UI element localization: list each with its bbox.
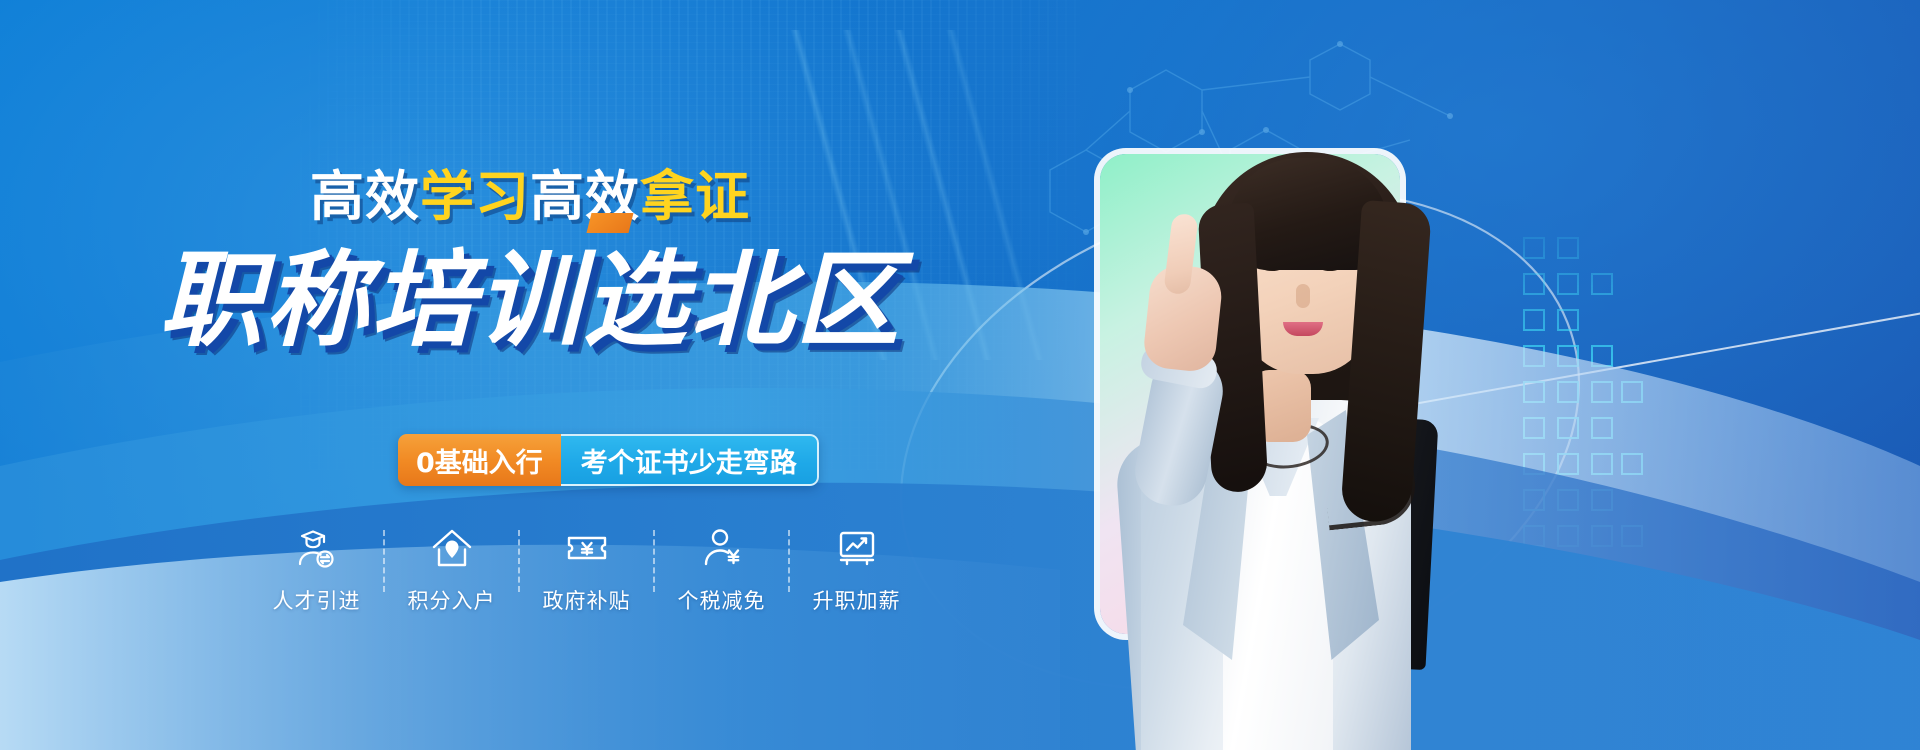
feature-item-points-residency[interactable]: 积分入户 xyxy=(385,524,518,615)
nose xyxy=(1296,284,1310,308)
feature-item-promotion-raise[interactable]: 升职加薪 xyxy=(790,524,923,615)
graduate-person-icon xyxy=(293,524,341,572)
orange-accent-stroke xyxy=(586,213,633,233)
chart-board-icon xyxy=(833,524,881,572)
feature-label: 政府补贴 xyxy=(543,585,631,615)
feature-item-tax-reduction[interactable]: 个税减免 xyxy=(655,524,788,615)
banner-headline: 职称培训选北区 xyxy=(0,215,1060,366)
feature-label: 人才引进 xyxy=(273,585,361,615)
house-pin-icon xyxy=(428,524,476,572)
feature-list: 人才引进 积分入户 xyxy=(250,524,923,615)
badge-right-label: 考个证书少走弯路 xyxy=(561,434,819,486)
headline-accent-char: 选 xyxy=(583,239,689,361)
coupon-yuan-icon xyxy=(563,524,611,572)
badge-left-label: 0基础入行 xyxy=(398,434,561,486)
headline-prefix: 职称培训 xyxy=(159,239,583,361)
promo-banner: 高效学习高效拿证 职称培训选北区 0基础入行 考个证书少走弯路 xyxy=(0,0,1920,750)
woman-pointing-up-photo xyxy=(1055,118,1615,750)
feature-label: 升职加薪 xyxy=(813,585,901,615)
headline-suffix: 北区 xyxy=(689,239,901,361)
feature-label: 个税减免 xyxy=(678,585,766,615)
portrait-figure xyxy=(1055,118,1615,750)
feature-item-government-subsidy[interactable]: 政府补贴 xyxy=(520,524,653,615)
feature-label: 积分入户 xyxy=(408,585,496,615)
person-yuan-icon xyxy=(698,524,746,572)
headline-accent-group: 选 xyxy=(583,215,689,366)
promo-badge[interactable]: 0基础入行 考个证书少走弯路 xyxy=(398,434,819,486)
feature-item-talent-introduction[interactable]: 人才引进 xyxy=(250,524,383,615)
banner-content: 高效学习高效拿证 职称培训选北区 0基础入行 考个证书少走弯路 xyxy=(0,0,1060,750)
